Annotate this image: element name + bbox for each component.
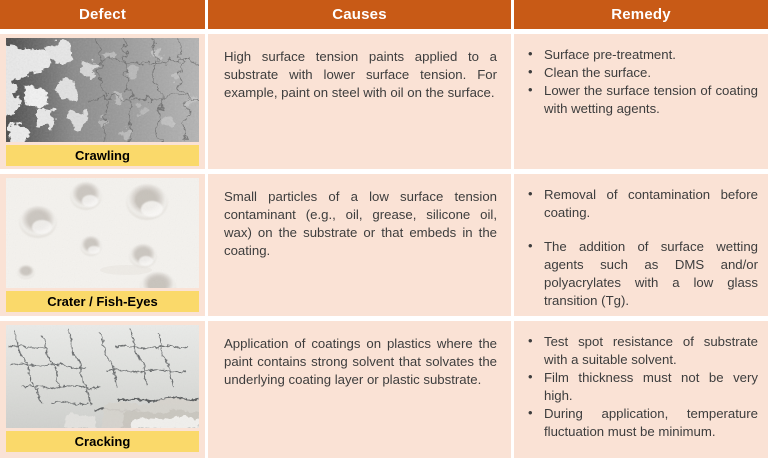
- list-item: Film thickness must not be very high.: [524, 369, 758, 405]
- remedy-text: Test spot resistance of substrate with a…: [544, 333, 758, 369]
- causes-text: Small particles of a low surface tension…: [224, 188, 497, 260]
- remedy-text: During application, temperature fluctuat…: [544, 405, 758, 441]
- remedy-list: Removal of contamination before coating.…: [524, 186, 758, 310]
- list-item: Test spot resistance of substrate with a…: [524, 333, 758, 369]
- table-row: Crawling High surface tension paints app…: [0, 34, 768, 169]
- causes-cell: Small particles of a low surface tension…: [208, 174, 511, 316]
- table-body: Crawling High surface tension paints app…: [0, 29, 768, 458]
- column-header-remedy: Remedy: [514, 0, 768, 29]
- table-row: Crater / Fish-Eyes Small particles of a …: [0, 174, 768, 316]
- defect-cell: Cracking: [0, 321, 205, 458]
- defect-cell: Crater / Fish-Eyes: [0, 174, 205, 316]
- defect-label-crater-fish-eyes: Crater / Fish-Eyes: [6, 291, 199, 312]
- causes-cell: Application of coatings on plastics wher…: [208, 321, 511, 458]
- remedy-text: Removal of contamination before coating.: [544, 186, 758, 222]
- remedy-cell: Surface pre-treatment. Clean the surface…: [514, 34, 768, 169]
- defect-cell: Crawling: [0, 34, 205, 169]
- column-header-causes: Causes: [208, 0, 511, 29]
- crawling-micrograph-image: [6, 38, 199, 142]
- crawling-image-graphic: [6, 38, 199, 142]
- crater-image-graphic: [6, 178, 199, 288]
- list-item: The addition of surface wetting agents s…: [524, 238, 758, 310]
- list-item: Lower the surface tension of coating wit…: [524, 82, 758, 118]
- remedy-text: Film thickness must not be very high.: [544, 369, 758, 405]
- crater-fish-eyes-image: [6, 178, 199, 288]
- remedy-text: Clean the surface.: [544, 64, 758, 82]
- list-item: During application, temperature fluctuat…: [524, 405, 758, 441]
- remedy-list: Surface pre-treatment. Clean the surface…: [524, 46, 758, 118]
- column-header-defect: Defect: [0, 0, 205, 29]
- list-item: Removal of contamination before coating.: [524, 186, 758, 222]
- remedy-cell: Removal of contamination before coating.…: [514, 174, 768, 316]
- table-row: Cracking Application of coatings on plas…: [0, 321, 768, 458]
- causes-text: High surface tension paints applied to a…: [224, 48, 497, 102]
- causes-text: Application of coatings on plastics wher…: [224, 335, 497, 389]
- remedy-text: The addition of surface wetting agents s…: [544, 238, 758, 310]
- remedy-text: Surface pre-treatment.: [544, 46, 758, 64]
- causes-cell: High surface tension paints applied to a…: [208, 34, 511, 169]
- remedy-text: Lower the surface tension of coating wit…: [544, 82, 758, 118]
- defects-table: Defect Causes Remedy: [0, 0, 768, 449]
- remedy-list: Test spot resistance of substrate with a…: [524, 333, 758, 441]
- cracking-image: [6, 325, 199, 428]
- defect-label-crawling: Crawling: [6, 145, 199, 166]
- remedy-cell: Test spot resistance of substrate with a…: [514, 321, 768, 458]
- table-header-row: Defect Causes Remedy: [0, 0, 768, 29]
- cracking-image-graphic: [6, 325, 199, 428]
- list-item: Surface pre-treatment.: [524, 46, 758, 64]
- list-item: Clean the surface.: [524, 64, 758, 82]
